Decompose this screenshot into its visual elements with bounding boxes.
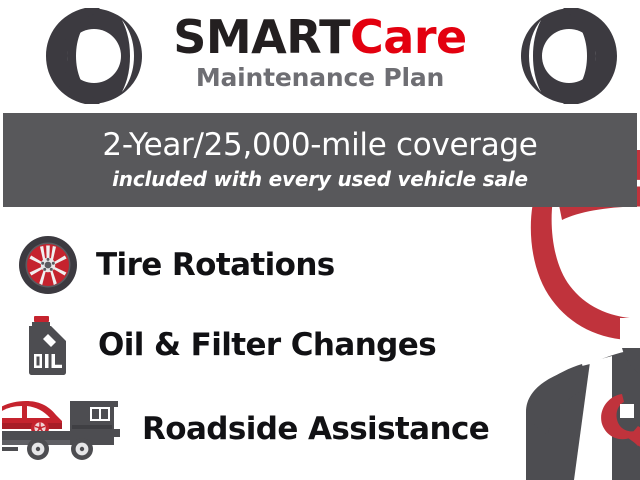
feature-item-oil-filter-changes: Oil & Filter Changes [18,309,436,381]
feature-label: Oil & Filter Changes [98,327,436,363]
brand-lockup: SMARTCare Maintenance Plan [0,14,640,90]
brand-name-secondary: Care [350,10,467,64]
coverage-headline: 2-Year/25,000-mile coverage [102,129,537,162]
feature-label: Roadside Assistance [142,411,489,447]
feature-list: Tire Rotations Oil & Filter Changes [0,207,640,480]
brand-subtitle: Maintenance Plan [0,65,640,90]
smart-care-maintenance-plan-ad: SMARTCare Maintenance Plan [0,0,640,480]
brand-name-primary: SMART [173,10,350,64]
coverage-banner: 2-Year/25,000-mile coverage included wit… [3,113,637,207]
feature-item-roadside-assistance: Roadside Assistance [2,393,489,465]
coverage-subline: included with every used vehicle sale [112,167,528,191]
tow-truck-icon [2,393,128,465]
oil-bottle-icon [18,314,76,376]
feature-item-tire-rotations: Tire Rotations [18,229,335,301]
tire-wheel-icon [18,235,78,295]
header: SMARTCare Maintenance Plan [0,0,640,112]
feature-label: Tire Rotations [96,247,335,283]
